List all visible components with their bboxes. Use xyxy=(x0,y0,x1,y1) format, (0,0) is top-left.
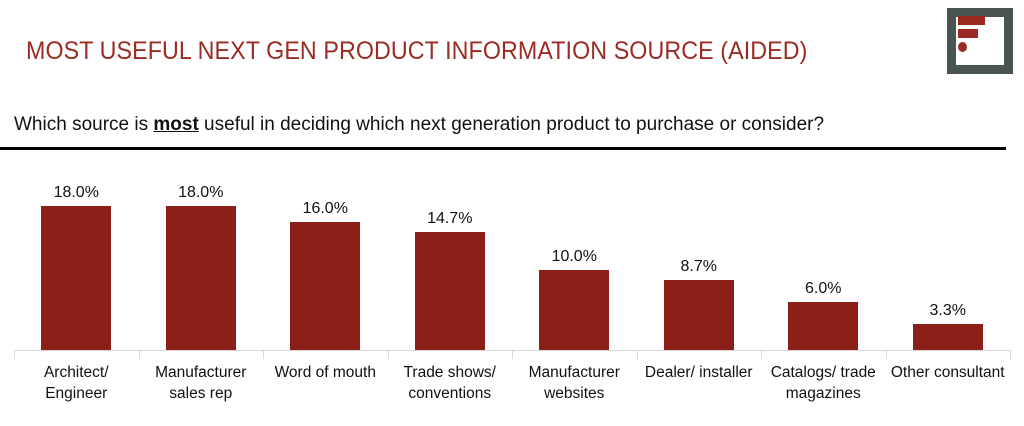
bar[interactable] xyxy=(913,324,983,350)
category-label-line: sales rep xyxy=(139,383,264,404)
question-emphasis: most xyxy=(153,114,198,135)
bar-column[interactable]: 14.7% xyxy=(388,160,513,350)
x-axis-tick xyxy=(263,350,264,359)
x-axis-category-label: Dealer/ installer xyxy=(637,362,762,383)
bar-chart: 18.0%18.0%16.0%14.7%10.0%8.7%6.0%3.3% Ar… xyxy=(0,160,1024,426)
question-text-after: useful in deciding which next generation… xyxy=(199,114,824,135)
x-axis-category-label: Manufacturersales rep xyxy=(139,362,264,404)
x-axis-category-label: Catalogs/ trademagazines xyxy=(761,362,886,404)
x-axis-category-label: Manufacturerwebsites xyxy=(512,362,637,404)
brand-logo xyxy=(947,8,1013,74)
logo-bar-top-icon xyxy=(958,16,985,25)
category-label-line: websites xyxy=(512,383,637,404)
x-axis-tick xyxy=(388,350,389,359)
bar-column[interactable]: 18.0% xyxy=(14,160,139,350)
bar-column[interactable]: 10.0% xyxy=(512,160,637,350)
category-label-line: Manufacturer xyxy=(139,362,264,383)
header-divider xyxy=(0,147,1006,150)
category-label-line: Other consultant xyxy=(886,362,1011,383)
page-title: MOST USEFUL NEXT GEN PRODUCT INFORMATION… xyxy=(26,36,807,66)
logo-bar-middle-icon xyxy=(958,29,978,38)
x-axis-category-label: Other consultant xyxy=(886,362,1011,383)
x-axis-tick xyxy=(761,350,762,359)
category-label-line: Architect/ xyxy=(14,362,139,383)
bar[interactable] xyxy=(166,206,236,350)
x-axis-category-label: Architect/Engineer xyxy=(14,362,139,404)
category-label-line: Dealer/ installer xyxy=(637,362,762,383)
category-label-line: Word of mouth xyxy=(263,362,388,383)
bar-value-label: 18.0% xyxy=(54,184,99,202)
logo-dot-icon xyxy=(958,42,967,52)
bar-value-label: 10.0% xyxy=(552,248,597,266)
bar-value-label: 18.0% xyxy=(178,184,223,202)
category-label-line: Catalogs/ trade xyxy=(761,362,886,383)
category-label-line: magazines xyxy=(761,383,886,404)
category-label-line: Manufacturer xyxy=(512,362,637,383)
bar-column[interactable]: 3.3% xyxy=(886,160,1011,350)
x-axis-tick xyxy=(14,350,15,359)
category-label-line: Engineer xyxy=(14,383,139,404)
bar[interactable] xyxy=(664,280,734,350)
x-axis-tick xyxy=(637,350,638,359)
category-label-line: conventions xyxy=(388,383,513,404)
question-text-before: Which source is xyxy=(14,114,153,135)
x-axis-category-labels: Architect/EngineerManufacturersales repW… xyxy=(14,362,1010,424)
bar[interactable] xyxy=(539,270,609,350)
bar-value-label: 8.7% xyxy=(681,258,717,276)
bar[interactable] xyxy=(290,222,360,350)
bar[interactable] xyxy=(788,302,858,350)
x-axis-tick xyxy=(1010,350,1011,359)
bar-column[interactable]: 6.0% xyxy=(761,160,886,350)
bar-column[interactable]: 8.7% xyxy=(637,160,762,350)
bar-value-label: 16.0% xyxy=(303,200,348,218)
bar[interactable] xyxy=(41,206,111,350)
x-axis-category-label: Trade shows/conventions xyxy=(388,362,513,404)
bar-value-label: 3.3% xyxy=(930,302,966,320)
bar-column[interactable]: 18.0% xyxy=(139,160,264,350)
x-axis-tick xyxy=(512,350,513,359)
x-axis-tick xyxy=(139,350,140,359)
x-axis-category-label: Word of mouth xyxy=(263,362,388,383)
category-label-line: Trade shows/ xyxy=(388,362,513,383)
bar[interactable] xyxy=(415,232,485,350)
bar-column[interactable]: 16.0% xyxy=(263,160,388,350)
plot-area: 18.0%18.0%16.0%14.7%10.0%8.7%6.0%3.3% xyxy=(14,160,1010,350)
x-axis-tick xyxy=(886,350,887,359)
bar-value-label: 14.7% xyxy=(427,210,472,228)
question-subtitle: Which source is most useful in deciding … xyxy=(14,113,824,137)
bar-value-label: 6.0% xyxy=(805,280,841,298)
